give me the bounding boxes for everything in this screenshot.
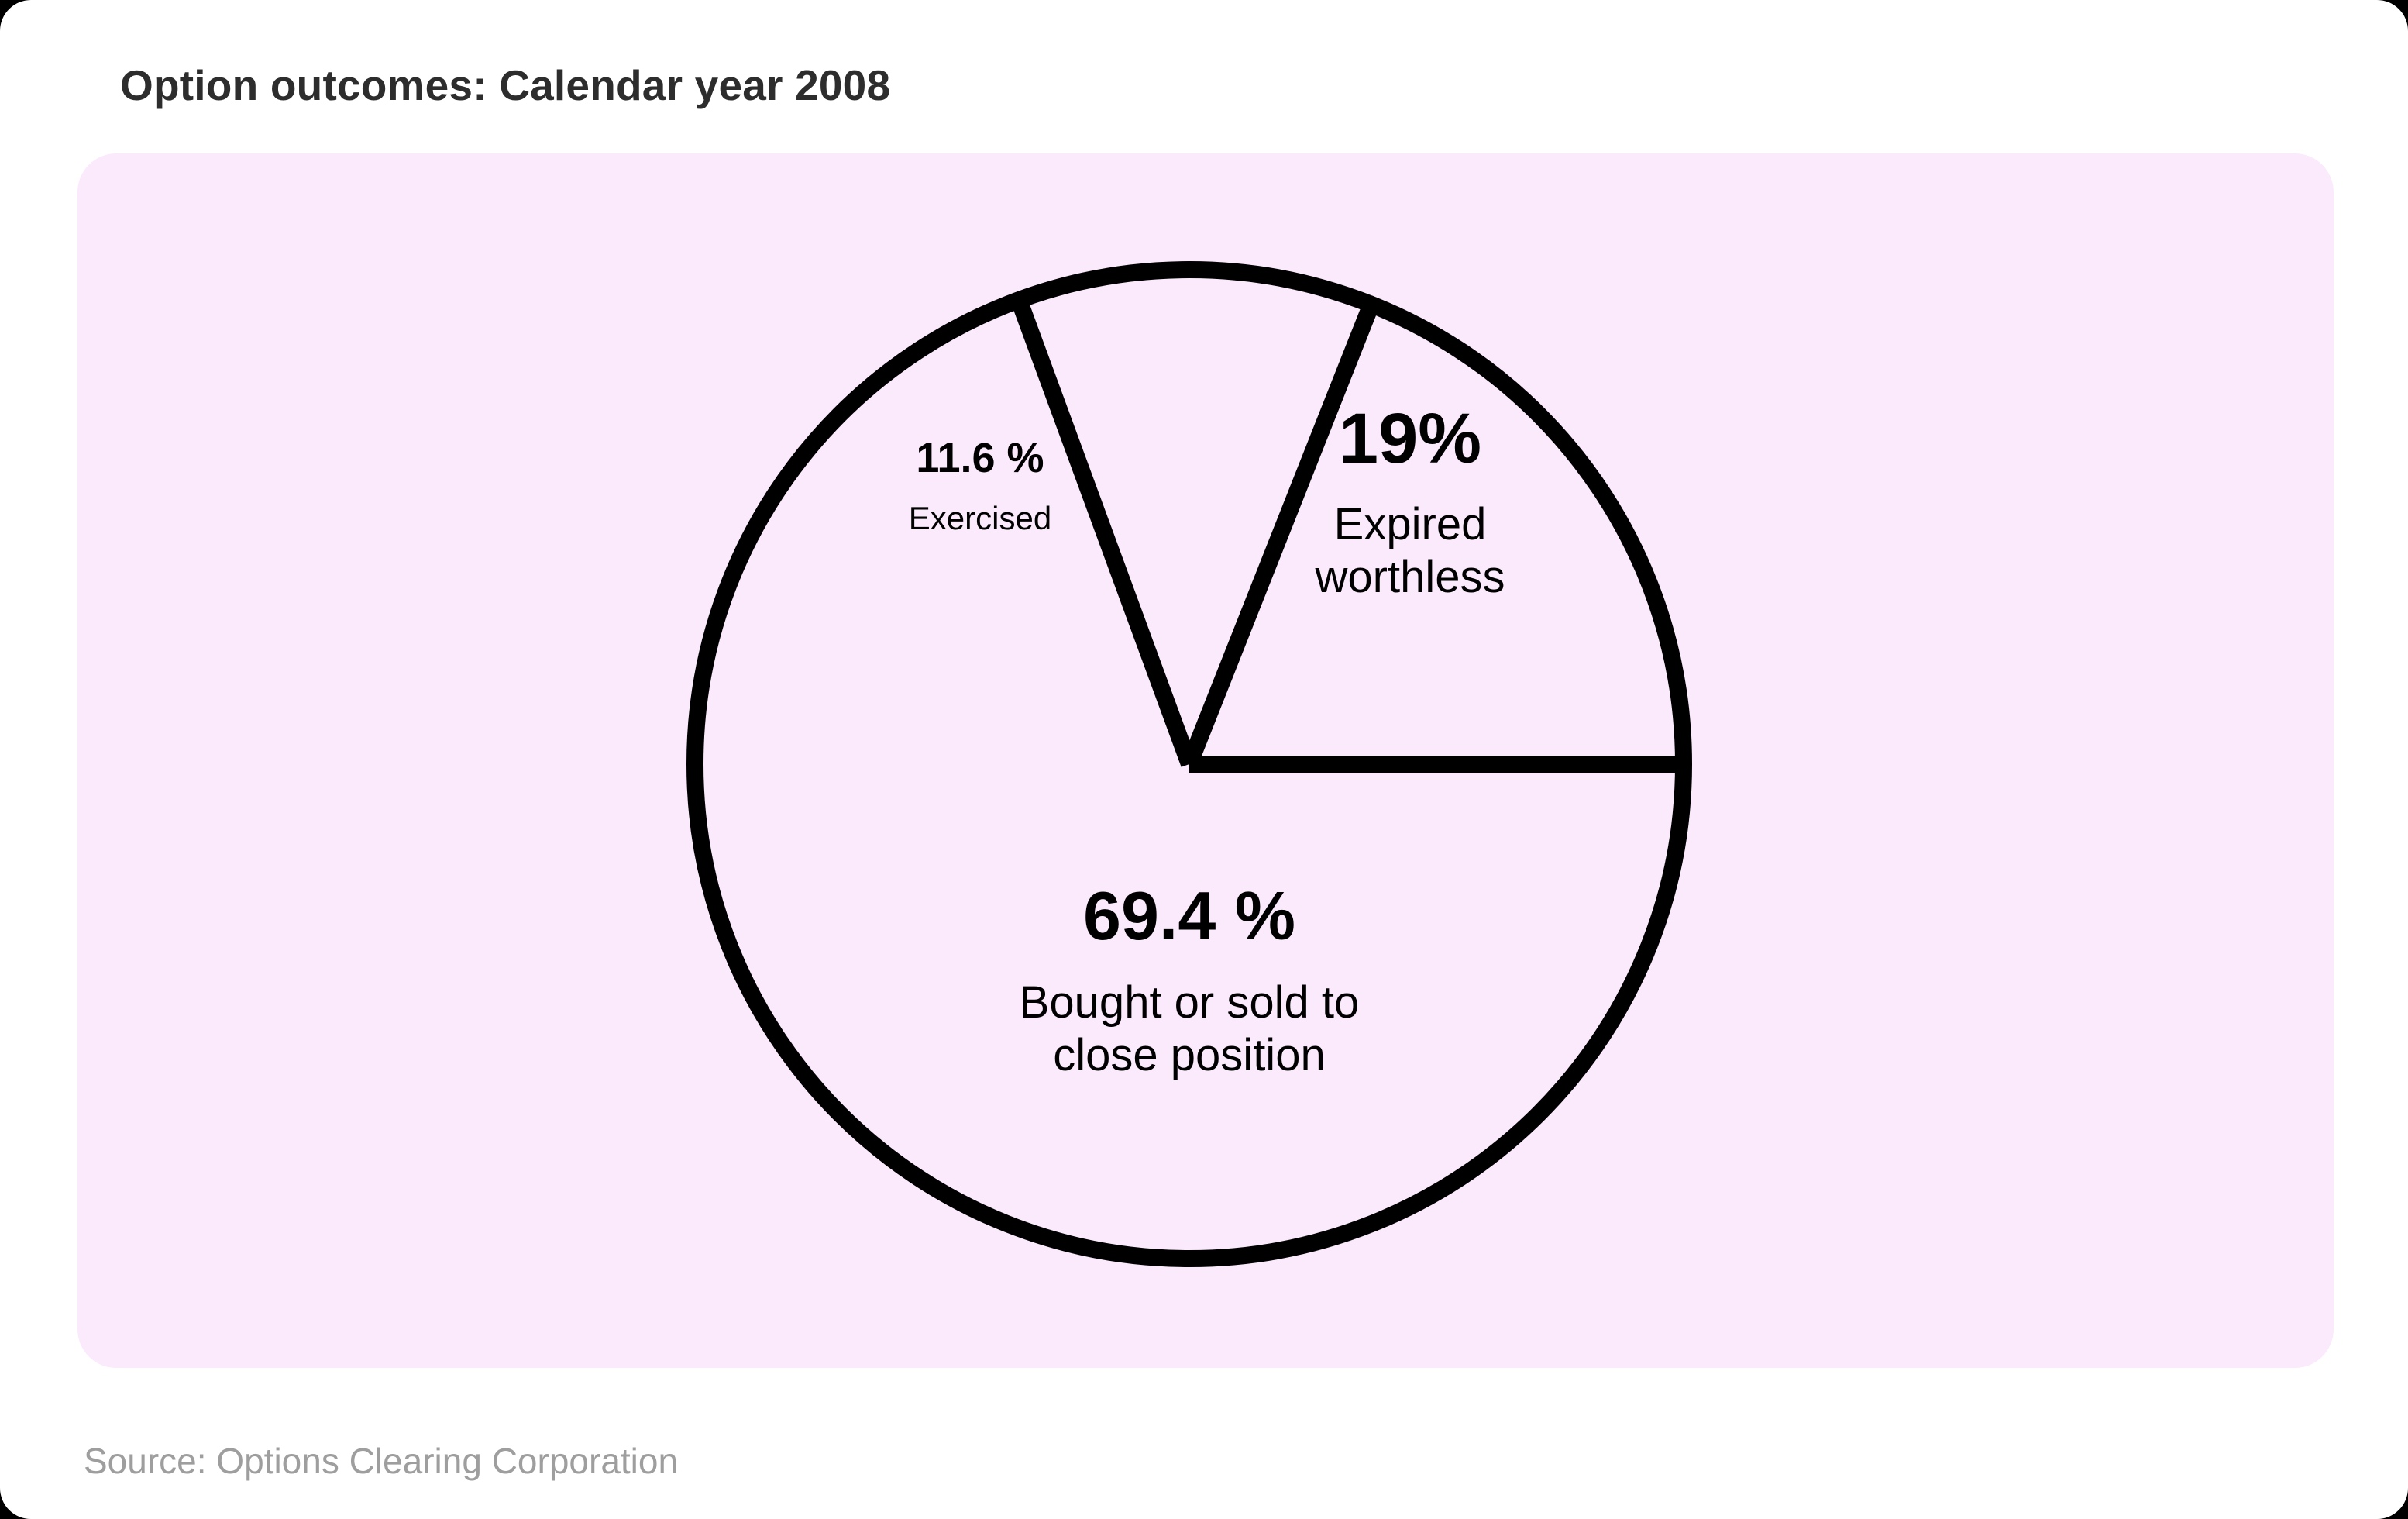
page-root: Option outcomes: Calendar year 2008 19% … [0, 0, 2408, 1519]
pie-slice-label-expired-worthless: 19% Expired worthless [1240, 397, 1581, 604]
pie-slice-name-expired-worthless-line2: worthless [1240, 551, 1581, 604]
pie-slice-label-bought-or-sold: 69.4 % Bought or sold to close position [934, 876, 1445, 1083]
pie-slice-value-bought-or-sold: 69.4 % [934, 876, 1445, 956]
pie-slice-value-exercised: 11.6 % [825, 434, 1135, 484]
pie-slice-name-expired-worthless-line1: Expired [1240, 498, 1581, 551]
page-title: Option outcomes: Calendar year 2008 [120, 60, 890, 110]
chart-card-panel [77, 153, 2334, 1368]
pie-slice-name-bought-or-sold-line1: Bought or sold to [934, 976, 1445, 1029]
pie-slice-label-exercised: 11.6 % Exercised [825, 434, 1135, 537]
pie-slice-value-expired-worthless: 19% [1240, 397, 1581, 481]
pie-slice-name-bought-or-sold-line2: close position [934, 1029, 1445, 1082]
pie-slice-name-exercised: Exercised [825, 499, 1135, 538]
chart-source-note: Source: Options Clearing Corporation [84, 1440, 678, 1482]
